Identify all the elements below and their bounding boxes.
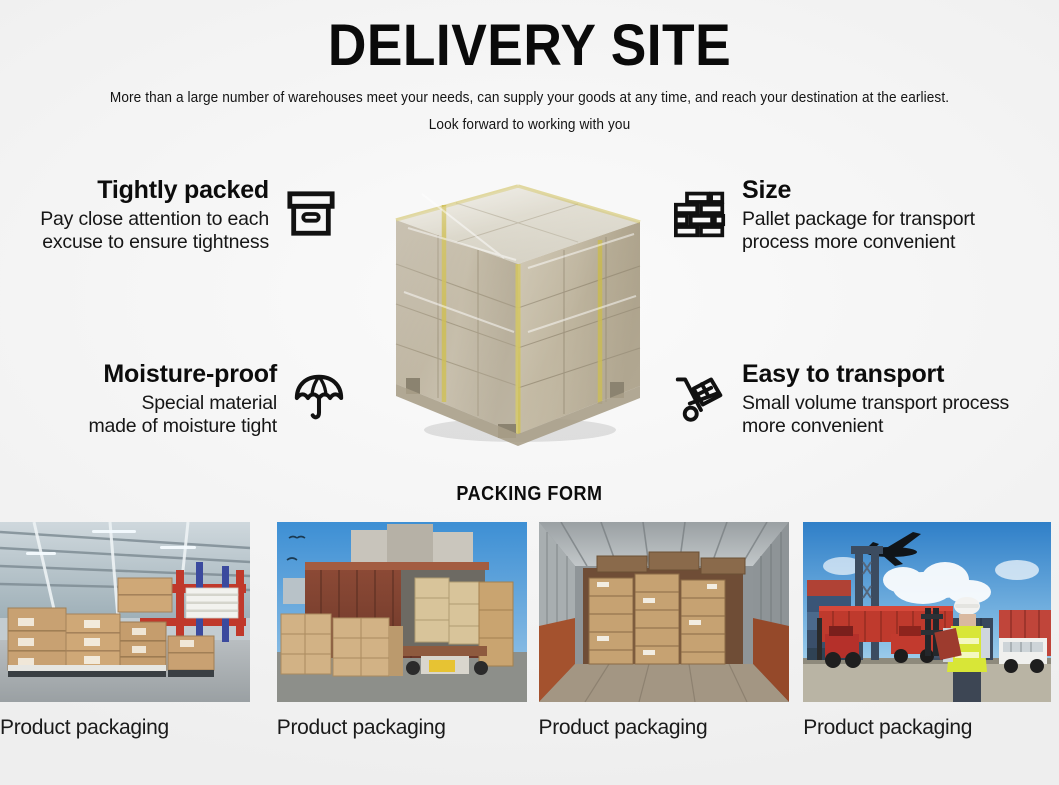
header-subtitle-line-2: Look forward to working with you bbox=[32, 117, 1027, 133]
feature-moisture-proof: Moisture-proof Special material made of … bbox=[88, 360, 347, 439]
feature-title: Size bbox=[742, 176, 791, 206]
feature-description: Pallet package for transport process mor… bbox=[742, 208, 975, 256]
header: DELIVERY SITE More than a large number o… bbox=[0, 0, 1059, 133]
feature-text-block: Easy to transport Small volume transport… bbox=[742, 360, 1009, 439]
shrink-wrapped-pallet-photo bbox=[378, 172, 658, 452]
port-logistics-photo[interactable] bbox=[803, 522, 1051, 702]
container-interior-photo[interactable] bbox=[539, 522, 789, 702]
feature-text-block: Moisture-proof Special material made of … bbox=[88, 360, 277, 439]
hand-truck-icon bbox=[672, 370, 728, 426]
gallery-item: Product packaging bbox=[530, 522, 795, 740]
feature-description: Pay close attention to each excuse to en… bbox=[40, 208, 269, 256]
gallery-item: Product packaging bbox=[794, 522, 1059, 740]
feature-description: Small volume transport process more conv… bbox=[742, 392, 1009, 440]
feature-title: Easy to transport bbox=[742, 360, 944, 390]
gallery-caption: Product packaging bbox=[277, 716, 530, 740]
feature-title: Moisture-proof bbox=[103, 360, 277, 390]
packing-form-gallery: Product packaging bbox=[0, 522, 1059, 740]
gallery-caption: Product packaging bbox=[0, 716, 265, 740]
gallery-caption: Product packaging bbox=[803, 716, 1059, 740]
gallery-item: Product packaging bbox=[265, 522, 530, 740]
gallery-caption: Product packaging bbox=[539, 716, 795, 740]
feature-easy-to-transport: Easy to transport Small volume transport… bbox=[672, 360, 1009, 439]
feature-size: Size Pallet package for transport proces… bbox=[672, 176, 975, 255]
feature-text-block: Tightly packed Pay close attention to ea… bbox=[40, 176, 269, 255]
warehouse-pallets-photo[interactable] bbox=[0, 522, 250, 702]
packing-form-label: PACKING FORM bbox=[53, 483, 1006, 506]
feature-tightly-packed: Tightly packed Pay close attention to ea… bbox=[40, 176, 339, 255]
gallery-item: Product packaging bbox=[0, 522, 265, 740]
feature-title: Tightly packed bbox=[97, 176, 269, 206]
archive-box-icon bbox=[283, 186, 339, 242]
page-title: DELIVERY SITE bbox=[42, 16, 1016, 76]
container-loading-photo[interactable] bbox=[277, 522, 527, 702]
umbrella-icon bbox=[291, 370, 347, 426]
brick-wall-icon bbox=[672, 186, 728, 242]
infographic-page: DELIVERY SITE More than a large number o… bbox=[0, 0, 1059, 785]
feature-description: Special material made of moisture tight bbox=[88, 392, 277, 440]
header-subtitle-line-1: More than a large number of warehouses m… bbox=[32, 90, 1027, 106]
feature-text-block: Size Pallet package for transport proces… bbox=[742, 176, 975, 255]
